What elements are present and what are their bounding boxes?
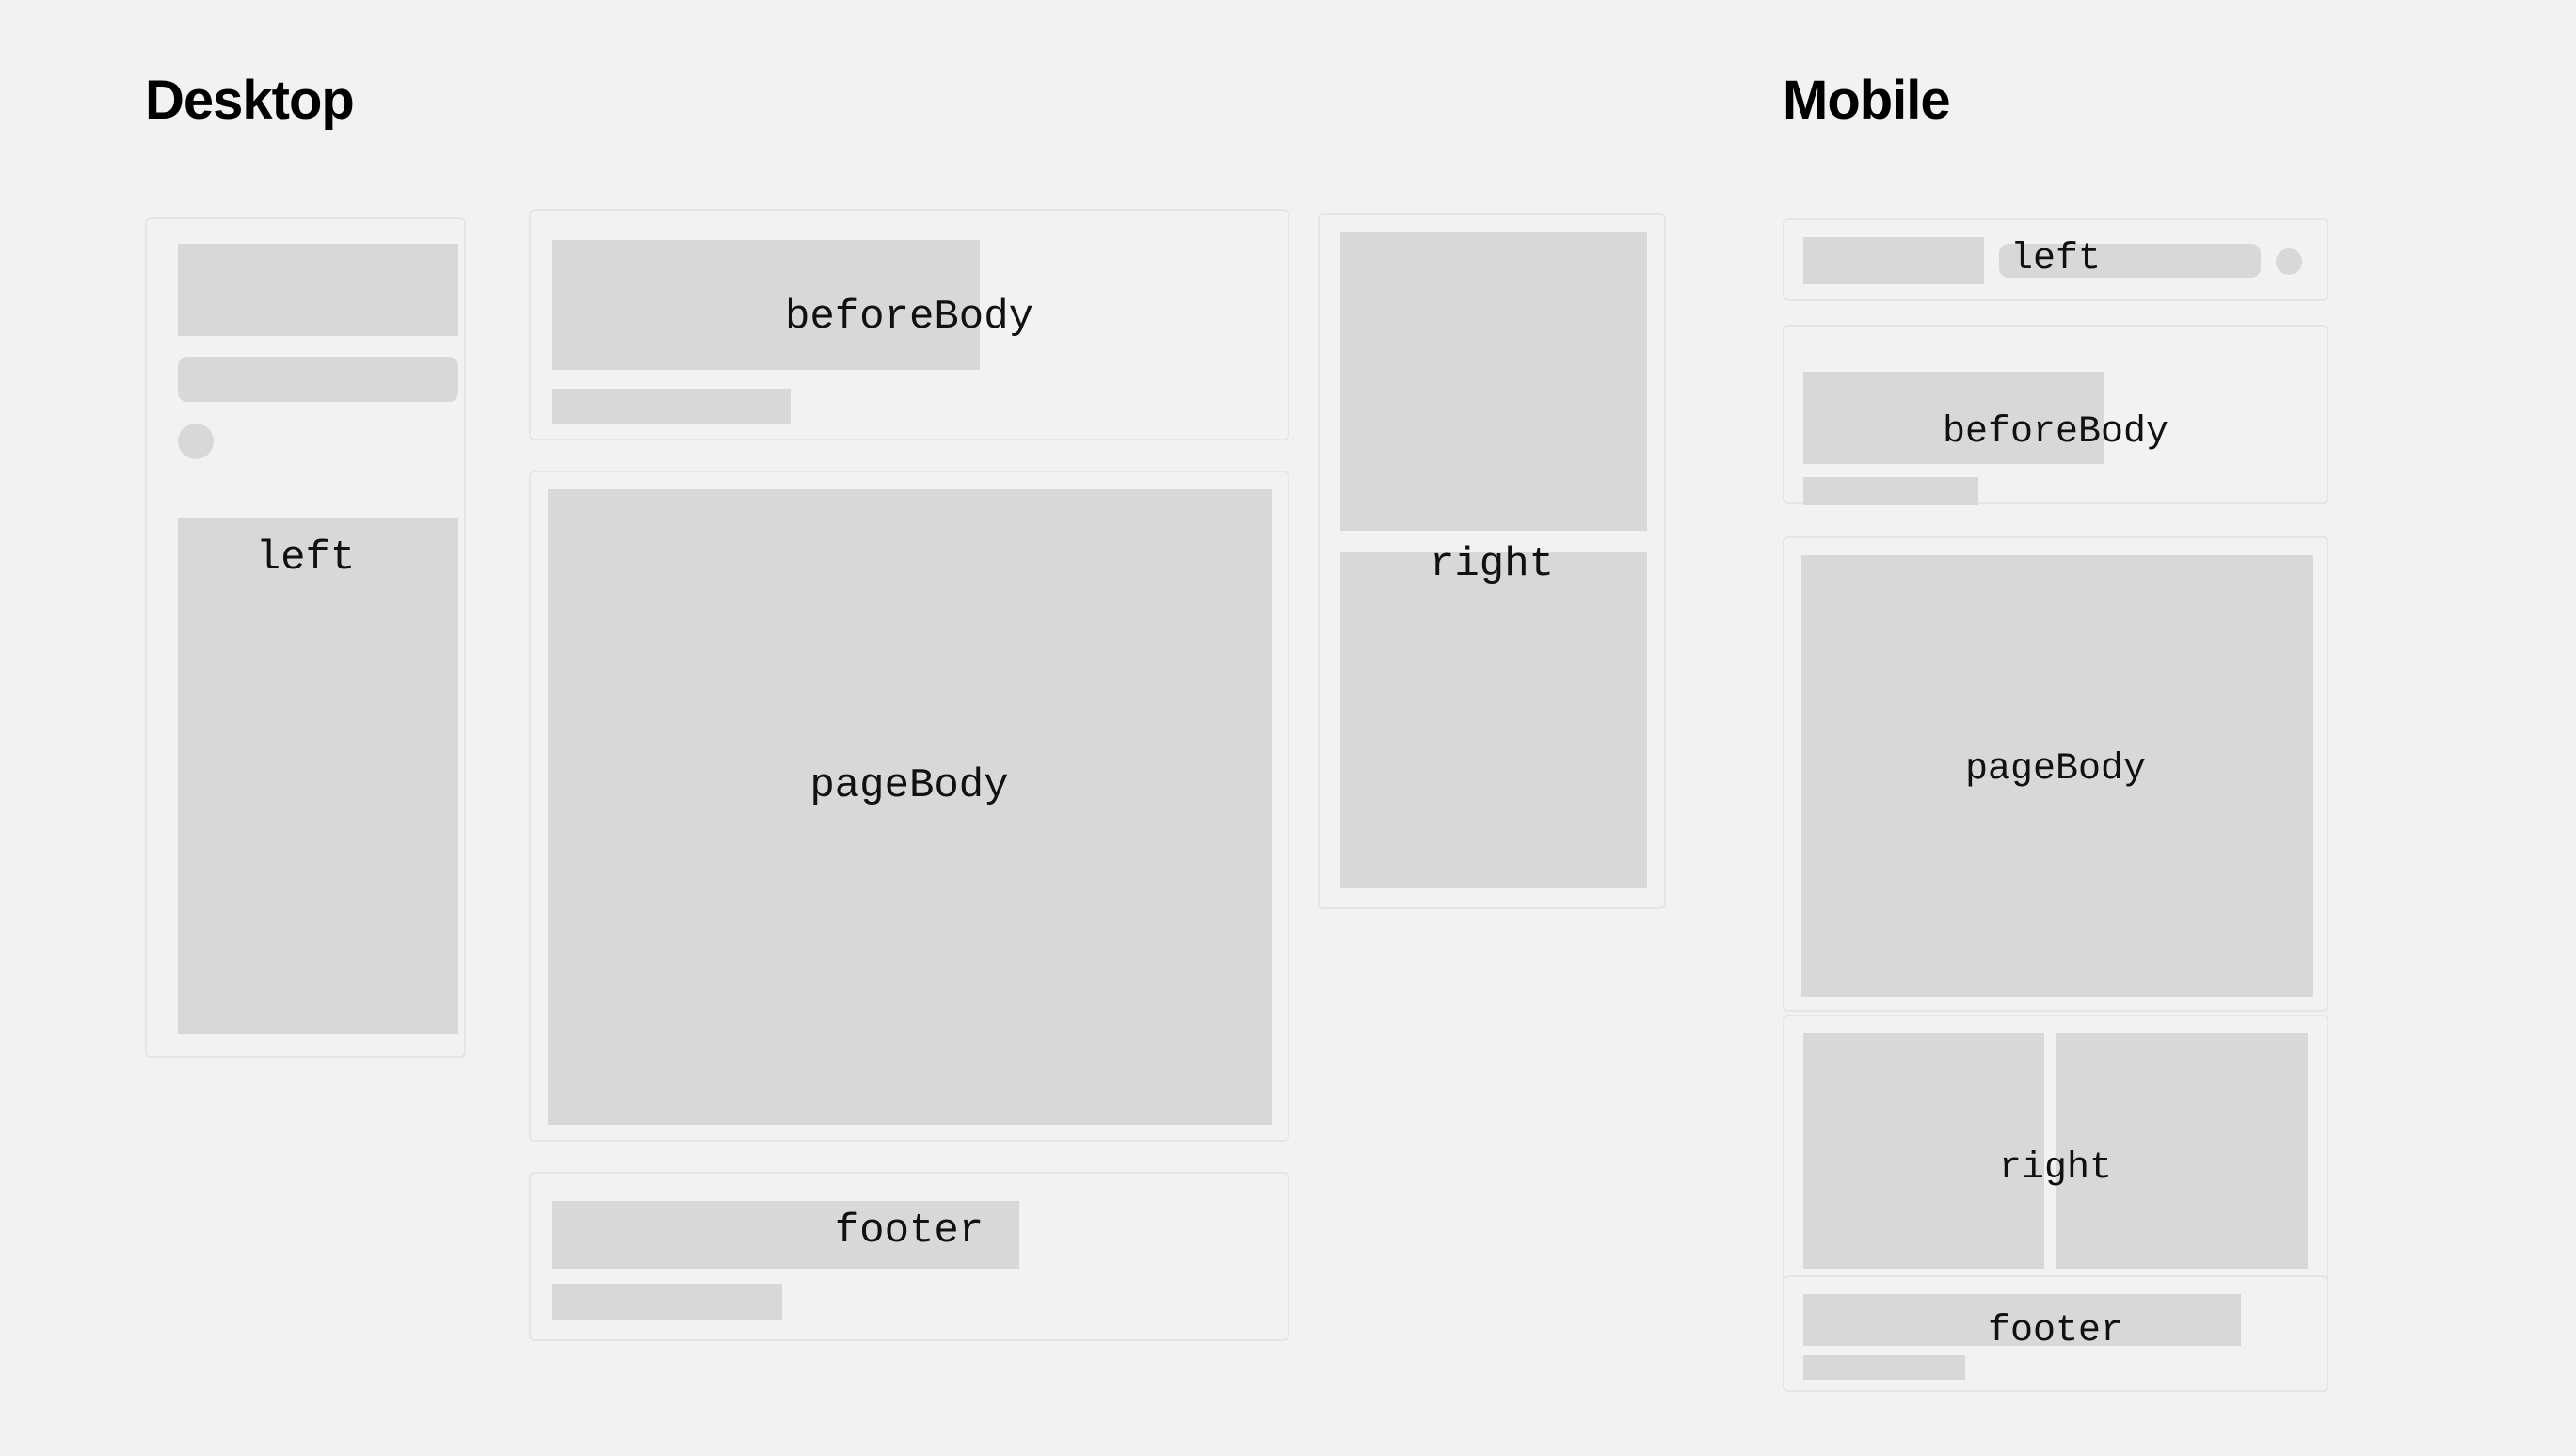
desktop-beforebody-block-2 [552,389,791,424]
desktop-left-block-3 [178,518,458,1034]
mobile-footer-block-2 [1803,1355,1965,1380]
mobile-left-block-2 [1999,244,2261,278]
desktop-beforebody-card [529,209,1289,440]
mobile-right-card [1783,1015,2328,1288]
mobile-pagebody-card [1783,536,2328,1012]
desktop-footer-block-1 [552,1201,1019,1269]
desktop-left-block-1 [178,244,458,336]
mobile-right-block-2 [2056,1033,2308,1269]
desktop-heading: Desktop [145,73,354,128]
mobile-footer-block-1 [1803,1294,2241,1346]
mobile-right-block-1 [1803,1033,2044,1269]
desktop-right-block-1 [1340,232,1647,531]
desktop-right-block-2 [1340,552,1647,888]
desktop-right-card [1318,213,1666,909]
desktop-pagebody-block [548,489,1272,1125]
desktop-beforebody-block-1 [552,240,980,370]
mobile-footer-card [1783,1275,2328,1392]
desktop-pagebody-card [529,471,1289,1142]
desktop-footer-block-2 [552,1284,782,1320]
desktop-left-block-2 [178,357,458,402]
mobile-left-avatar-circle [2276,248,2302,275]
mobile-pagebody-block [1801,555,2313,997]
desktop-left-avatar-circle [178,424,214,459]
desktop-footer-card [529,1172,1289,1341]
wireframe-canvas: Desktop left beforeBody pageBody right f… [0,0,2576,1456]
mobile-left-card [1783,218,2328,301]
desktop-left-card [145,217,466,1058]
mobile-beforebody-card [1783,325,2328,504]
mobile-beforebody-block-2 [1803,477,1978,505]
mobile-beforebody-block-1 [1803,372,2104,464]
mobile-left-block-1 [1803,237,1984,284]
mobile-heading: Mobile [1783,73,1950,128]
